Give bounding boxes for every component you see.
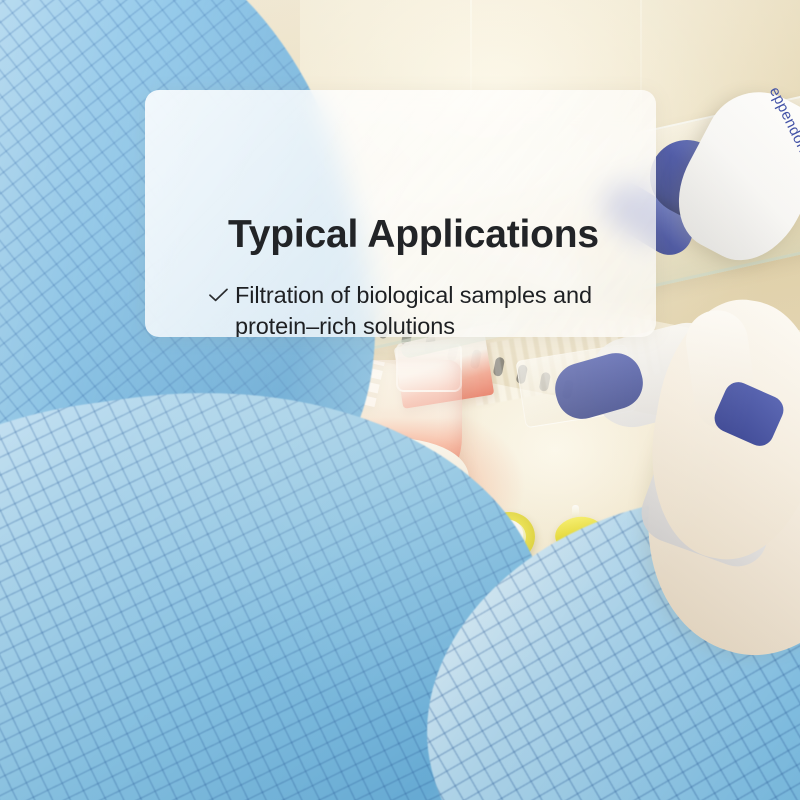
check-icon — [207, 280, 229, 310]
list-item: Filtration of biological samples and pro… — [207, 280, 637, 337]
page-title: Typical Applications — [228, 214, 599, 257]
list-item-label: Filtration of biological samples and pro… — [235, 280, 637, 337]
typical-applications-panel: Typical Applications Filtration of biolo… — [145, 90, 656, 337]
applications-list: Filtration of biological samples and pro… — [207, 280, 637, 337]
product-marketing-image: cobetter® FILTRATION GROUP Sterile Syrin… — [0, 0, 800, 800]
